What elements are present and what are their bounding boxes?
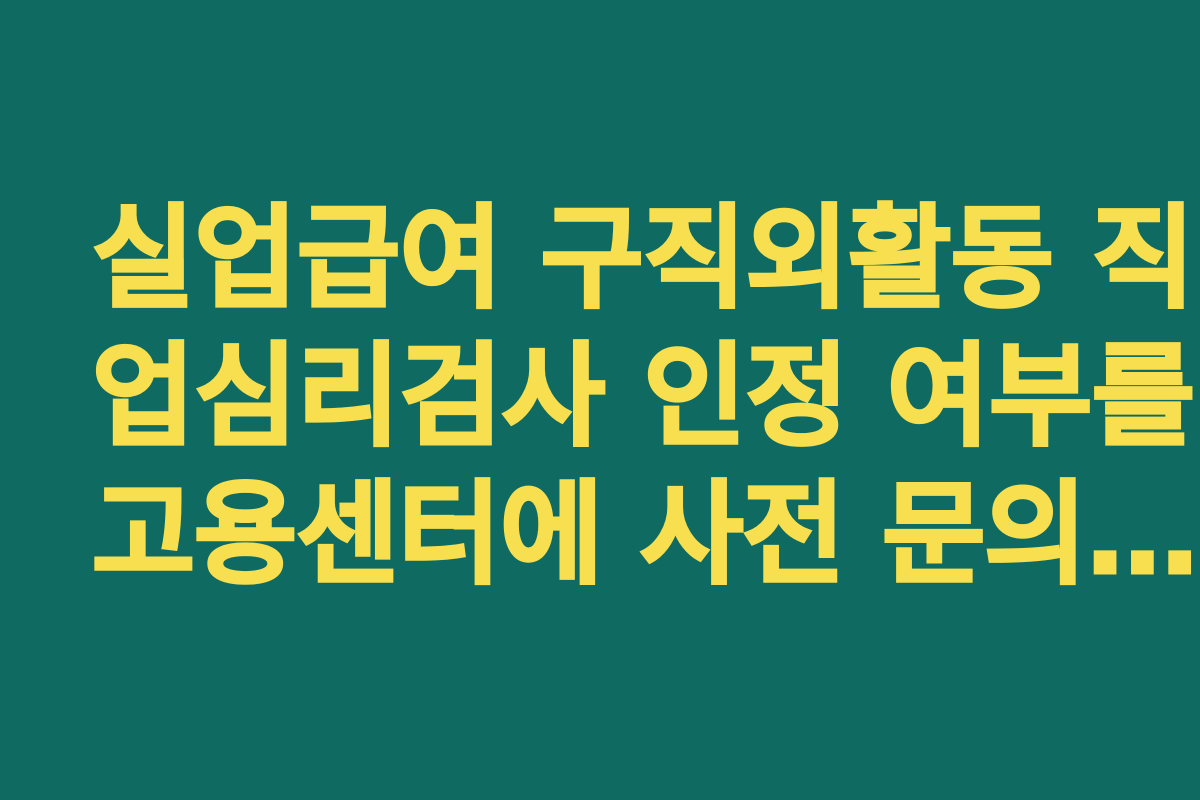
headline-line-1: 실업급여 구직외활동 직 (92, 190, 1176, 328)
headline-block: 실업급여 구직외활동 직 업심리검사 인정 여부를 고용센터에 사전 문의… (0, 190, 1200, 604)
headline-line-2: 업심리검사 인정 여부를 (92, 328, 1176, 466)
headline-line-3: 고용센터에 사전 문의… (92, 466, 1176, 604)
poster-canvas: 실업급여 구직외활동 직 업심리검사 인정 여부를 고용센터에 사전 문의… (0, 0, 1200, 800)
